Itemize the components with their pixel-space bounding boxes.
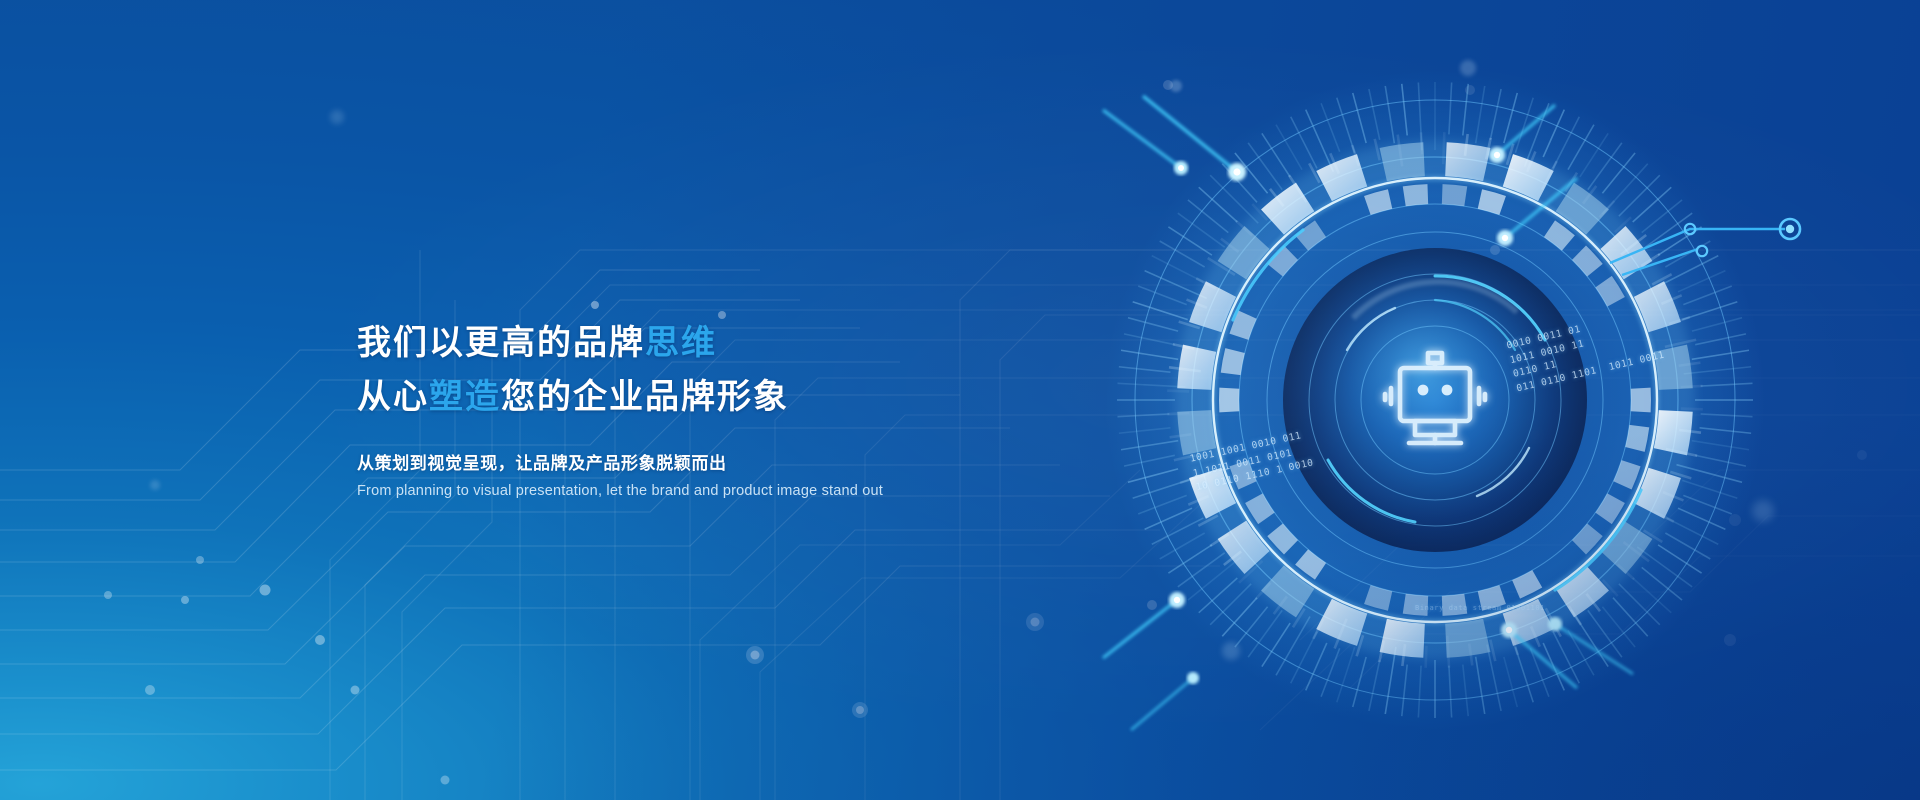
light-streaks [1103,96,1633,730]
headline-line-2-lead: 从心 [357,378,429,416]
binary-text-caption: Binary data stream 01001101 [1415,603,1545,614]
bokeh-dot [1752,500,1774,522]
headline-line-1-plain: 我们以更高的品牌 [357,324,645,362]
hero-banner: 0010 0011 01 1011 0010 11 0110 11 011 01… [0,0,1920,800]
headline-line-2-tail: 您的企业品牌形象 [501,378,789,416]
headline-line-2-accent: 塑造 [429,378,501,416]
binary-text-left: 1001 1001 0010 011 1 1011 0011 0101 10 0… [1189,428,1316,496]
headline-line-2: 从心塑造您的企业品牌形象 [357,372,1117,422]
headline-line-1: 我们以更高的品牌思维 [357,318,1117,368]
robot-icon [1385,353,1485,443]
binary-text-right: 0010 0011 01 1011 0010 11 0110 11 011 01… [1505,306,1666,397]
hud-tech-circle-graphic [1085,50,1785,750]
bokeh-dot [1222,642,1240,660]
bokeh-dot [330,110,344,124]
subtitle-english: From planning to visual presentation, le… [357,483,1117,499]
headline-line-1-accent: 思维 [645,324,717,362]
hero-copy-block: 我们以更高的品牌思维 从心塑造您的企业品牌形象 从策划到视觉呈现，让品牌及产品形… [357,318,1117,499]
connector-node-decoration [1680,205,1920,285]
bokeh-dot [1170,80,1182,92]
bokeh-dot [150,480,160,490]
subtitle-chinese: 从策划到视觉呈现，让品牌及产品形象脱颖而出 [357,449,1117,474]
bokeh-dot [1460,60,1476,76]
